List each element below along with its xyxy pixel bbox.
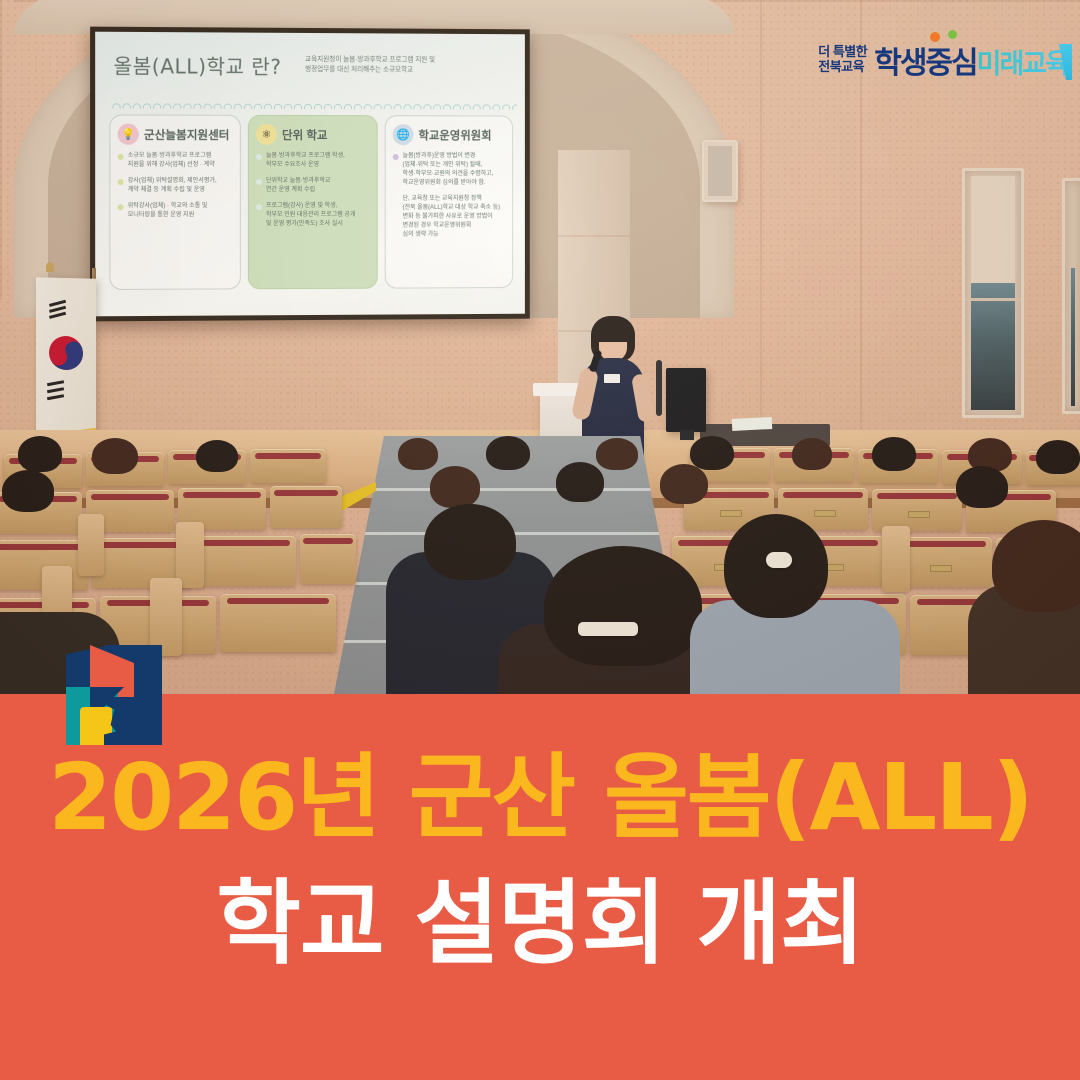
slide-bullet: 늘봄(방과후)운영 방법이 변경 (업체·위탁 또는 개인 위탁) 될때, 학생…	[393, 152, 506, 188]
bullet-text: 단위학교 늘봄·방과후학교 연간 운영 계획 수립	[266, 177, 330, 195]
slide-bullet: 소규모 늘봄·방과후학교 프로그램 지원을 위해 강사(업체) 선정 · 계약	[118, 152, 233, 170]
wall-speaker	[702, 140, 738, 202]
trigram-bar	[47, 387, 64, 393]
slide-wave-divider	[111, 98, 517, 109]
slide-bullet: 프로그램(강사) 운영 및 학생, 학부모 민원 대응관리 프로그램 공개 및 …	[256, 202, 370, 229]
slide-bullet: 단, 교육청 또는 교육지원청 정책 (전북 올봄(ALL)학교 대상 학교 축…	[393, 195, 506, 240]
banner-title-block: 2026년 군산 올봄(ALL) 학교 설명회 개최	[0, 752, 1080, 970]
gunsan-education-emblem	[66, 645, 162, 745]
slide-box-school-committee: 🌐 학교운영위원회 늘봄(방과후)운영 방법이 변경 (업체·위탁 또는 개인 …	[385, 115, 513, 288]
side-window	[1062, 178, 1080, 414]
bullet-text: 소규모 늘봄·방과후학교 프로그램 지원을 위해 강사(업체) 선정 · 계약	[128, 152, 215, 170]
auditorium-presentation-photo: 올봄(ALL)학교 란? 교육지원청이 늘봄·방과후학교 프로그램 지원 및 행…	[0, 0, 1080, 694]
audience-head	[556, 462, 604, 502]
seat	[220, 594, 336, 652]
taeguk-symbol	[43, 330, 88, 375]
bullet-dot	[118, 204, 124, 210]
presenter-fringe	[591, 316, 635, 342]
audience-head	[992, 520, 1080, 612]
audience-head	[424, 504, 516, 580]
logo-accent-text: 미래교육	[977, 42, 1068, 81]
slide-boxes: 💡 군산늘봄지원센터 소규모 늘봄·방과후학교 프로그램 지원을 위해 강사(업…	[109, 114, 513, 290]
slide-box-title: 학교운영위원회	[418, 127, 491, 143]
wall-seam	[558, 235, 630, 237]
logo-tagline-line2: 전북교육	[818, 60, 867, 75]
bullet-text: 늘봄·방과후학교 프로그램 학생, 학부모 수요조사 운영	[266, 152, 345, 170]
armrest	[78, 514, 104, 576]
slide-surface: 올봄(ALL)학교 란? 교육지원청이 늘봄·방과후학교 프로그램 지원 및 행…	[95, 32, 525, 317]
slide-bullet: 위탁강사(업체) · 학교와 소통 및 모니터링을 통한 운영 지원	[118, 202, 233, 220]
slide-bullet: 단위학교 늘봄·방과후학교 연간 운영 계획 수립	[256, 177, 370, 195]
atom-icon: ⚛	[256, 124, 277, 145]
banner-title-line2: 학교 설명회 개최	[0, 878, 1080, 970]
bullet-dot	[256, 179, 262, 185]
audience-head	[398, 438, 438, 470]
audience-head	[596, 438, 638, 470]
seat	[270, 486, 342, 528]
bullet-dot	[118, 179, 124, 185]
mic-stand	[656, 360, 662, 416]
auditorium-seats	[0, 436, 1080, 694]
bullet-text: 늘봄(방과후)운영 방법이 변경 (업체·위탁 또는 개인 위탁) 될때, 학생…	[403, 152, 494, 188]
slide-bullet: 강사(업체) 위탁설명회, 제안서평가, 계약 체결 등 계획 수립 및 운영	[118, 177, 233, 195]
window-mullion	[965, 298, 1021, 301]
audience-head	[872, 437, 916, 471]
window-glass	[971, 283, 1015, 410]
seat	[196, 536, 296, 586]
flagpole-finial	[46, 262, 54, 272]
slide-box-header: ⚛ 단위 학교	[256, 124, 370, 145]
slide-box-title: 단위 학교	[282, 126, 328, 142]
projection-screen: 올봄(ALL)학교 란? 교육지원청이 늘봄·방과후학교 프로그램 지원 및 행…	[90, 27, 530, 322]
bullet-dot	[256, 154, 262, 160]
armrest	[882, 526, 910, 592]
audience-head	[690, 436, 734, 470]
seat	[250, 449, 326, 483]
audience-head	[1036, 440, 1080, 474]
wall-seam	[760, 0, 762, 440]
slide-box-header: 🌐 학교운영위원회	[393, 124, 506, 145]
audience-head	[2, 470, 54, 512]
audience-head	[544, 546, 702, 666]
window-blind	[971, 176, 1015, 288]
audience-head	[792, 438, 832, 470]
bullet-text: 강사(업체) 위탁설명회, 제안서평가, 계약 체결 등 계획 수립 및 운영	[128, 177, 217, 195]
trigram-bar	[49, 312, 66, 319]
globe-icon: 🌐	[393, 124, 414, 145]
audience-head	[486, 436, 530, 470]
papers	[732, 417, 773, 431]
slide-subtitle: 교육지원청이 늘봄·방과후학교 프로그램 지원 및 행정업무를 대신 처리해주는…	[305, 55, 435, 76]
banner-title-line1: 2026년 군산 올봄(ALL)	[0, 752, 1080, 844]
bullet-dot	[393, 154, 399, 160]
slide-box-unit-school: ⚛ 단위 학교 늘봄·방과후학교 프로그램 학생, 학부모 수요조사 운영 단위…	[248, 115, 378, 289]
bullet-text: 프로그램(강사) 운영 및 학생, 학부모 민원 대응관리 프로그램 공개 및 …	[266, 202, 355, 229]
seat-number-plate	[908, 511, 930, 518]
name-badge	[604, 374, 620, 383]
confidence-monitor	[666, 368, 706, 432]
audience-head	[660, 464, 708, 504]
lightbulb-icon: 💡	[118, 124, 139, 145]
aisle-step	[334, 488, 690, 491]
slide-box-title: 군산늘봄지원센터	[144, 126, 229, 142]
seat-number-plate	[814, 510, 836, 517]
hair-clip	[766, 552, 792, 568]
audience-head	[430, 466, 480, 508]
korean-national-flag	[36, 277, 96, 454]
side-window	[962, 168, 1024, 418]
audience-head	[956, 466, 1008, 508]
audience-head	[92, 438, 138, 474]
audience-head	[18, 436, 62, 472]
bullet-text: 단, 교육청 또는 교육지원청 정책 (전북 올봄(ALL)학교 대상 학교 축…	[403, 195, 501, 240]
logo-tagline: 더 특별한 전북교육	[818, 45, 867, 74]
trigram-bar	[47, 380, 64, 386]
slide-box-support-center: 💡 군산늘봄지원센터 소규모 늘봄·방과후학교 프로그램 지원을 위해 강사(업…	[109, 114, 240, 290]
jeonbuk-education-logo: 더 특별한 전북교육 학생중심 미래교육	[818, 38, 1068, 82]
logo-tagline-line1: 더 특별한	[818, 45, 867, 60]
seat	[872, 489, 962, 531]
window-glass	[1071, 268, 1075, 406]
hair-clip	[578, 622, 638, 636]
seat-number-plate	[720, 510, 742, 517]
seat-number-plate	[930, 565, 952, 572]
bullet-text: 위탁강사(업체) · 학교와 소통 및 모니터링을 통한 운영 지원	[128, 202, 208, 220]
seat	[300, 534, 356, 584]
trigram-bar	[47, 394, 64, 400]
slide-header: 올봄(ALL)학교 란? 교육지원청이 늘봄·방과후학교 프로그램 지원 및 행…	[113, 50, 511, 104]
promo-card: 올봄(ALL)학교 란? 교육지원청이 늘봄·방과후학교 프로그램 지원 및 행…	[0, 0, 1080, 1080]
logo-wordmark: 학생중심 미래교육	[874, 38, 1068, 82]
slide-bullet: 늘봄·방과후학교 프로그램 학생, 학부모 수요조사 운영	[256, 152, 370, 170]
wall-seam	[0, 0, 2, 300]
audience-head	[196, 440, 238, 472]
bullet-dot	[118, 154, 124, 160]
logo-main-text: 학생중심	[874, 38, 976, 82]
bullet-dot	[256, 204, 262, 210]
slide-box-header: 💡 군산늘봄지원센터	[118, 124, 233, 145]
